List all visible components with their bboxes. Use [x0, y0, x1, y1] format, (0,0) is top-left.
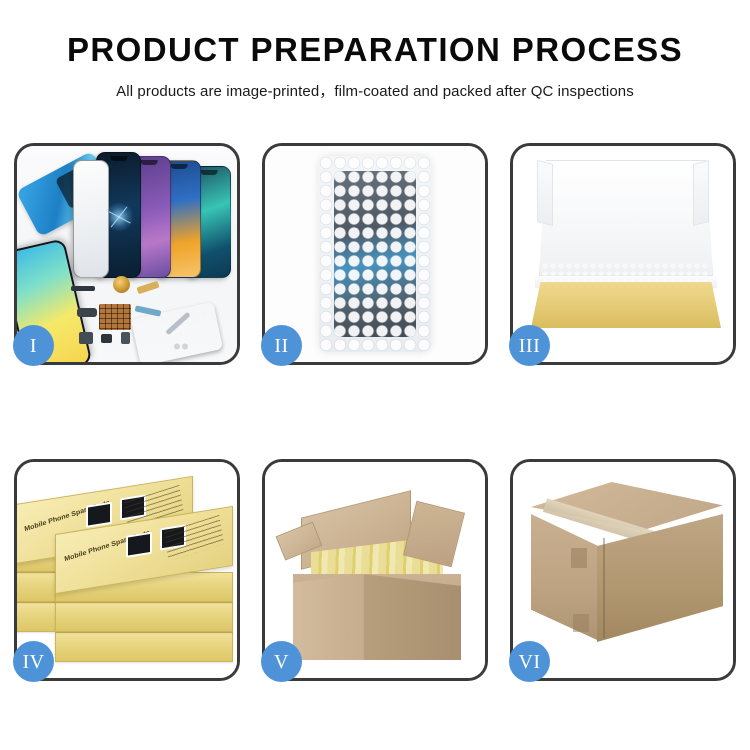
- box-flap-left: [537, 160, 553, 226]
- sensor-part: [121, 332, 130, 344]
- bubble-film-texture: [319, 156, 431, 352]
- page-header: PRODUCT PREPARATION PROCESS All products…: [0, 0, 750, 101]
- phone-screen-print: [86, 502, 112, 528]
- bubble-wrap-package: [319, 156, 431, 352]
- step-badge-2: II: [261, 325, 302, 366]
- carton-corner-seam: [603, 538, 605, 638]
- page-title: PRODUCT PREPARATION PROCESS: [0, 33, 750, 68]
- process-step-card-5[interactable]: V: [262, 459, 488, 681]
- box-lid-white: [539, 160, 713, 276]
- notch-icon: [171, 164, 188, 169]
- spec-text-lines: [164, 515, 224, 561]
- step-2-image-bubble-wrap: [265, 146, 485, 362]
- spare-parts-group: [71, 278, 187, 356]
- copper-coil-part: [113, 276, 130, 293]
- step-5-image-open-carton: [265, 462, 485, 678]
- carton-handle-tab: [571, 548, 587, 568]
- process-step-grid: I II III: [14, 143, 738, 681]
- phone-glass-panel-white: [73, 160, 109, 278]
- speaker-part: [79, 332, 93, 344]
- page-subtitle: All products are image-printed，film-coat…: [0, 80, 750, 101]
- connector-strip-part: [71, 286, 95, 291]
- process-step-card-1[interactable]: I: [14, 143, 240, 365]
- button-part: [101, 334, 112, 343]
- notch-icon: [141, 160, 158, 165]
- notch-icon: [201, 170, 218, 175]
- step-badge-5: V: [261, 641, 302, 682]
- phone-display-fan-graphic: [73, 150, 233, 278]
- step-1-image-products: [17, 146, 237, 362]
- camera-module-part: [77, 308, 97, 317]
- carton-side-flap-right: [403, 501, 465, 567]
- ribbon-cable-part: [135, 305, 162, 316]
- step-badge-1: I: [13, 325, 54, 366]
- step-badge-3: III: [509, 325, 550, 366]
- box-tray-kraft: [531, 282, 721, 328]
- flex-cable-part: [136, 281, 159, 294]
- process-step-card-3[interactable]: III: [510, 143, 736, 365]
- phone-screen-print: [126, 532, 152, 558]
- carton-front-face: [293, 574, 461, 660]
- step-3-image-inner-box: [513, 146, 733, 362]
- sealed-carton: [531, 482, 723, 654]
- notch-icon: [110, 156, 127, 161]
- retail-box: [55, 632, 233, 662]
- step-4-image-retail-boxes: Mobile Phone Spare Parts Mobile Phone Sp…: [17, 462, 237, 678]
- step-badge-6: VI: [509, 641, 550, 682]
- process-step-card-4[interactable]: Mobile Phone Spare Parts Mobile Phone Sp…: [14, 459, 240, 681]
- step-6-image-sealed-carton: [513, 462, 733, 678]
- screws-part: [173, 343, 189, 350]
- box-flap-right: [693, 160, 709, 226]
- carton-handle-tab: [573, 614, 589, 632]
- retail-box: [55, 602, 233, 632]
- chip-grid-part: [99, 304, 131, 330]
- process-step-card-2[interactable]: II: [262, 143, 488, 365]
- process-step-card-6[interactable]: VI: [510, 459, 736, 681]
- tweezers-icon: [165, 312, 191, 336]
- retail-box-stack: Mobile Phone Spare Parts Mobile Phone Sp…: [17, 486, 237, 676]
- step-badge-4: IV: [13, 641, 54, 682]
